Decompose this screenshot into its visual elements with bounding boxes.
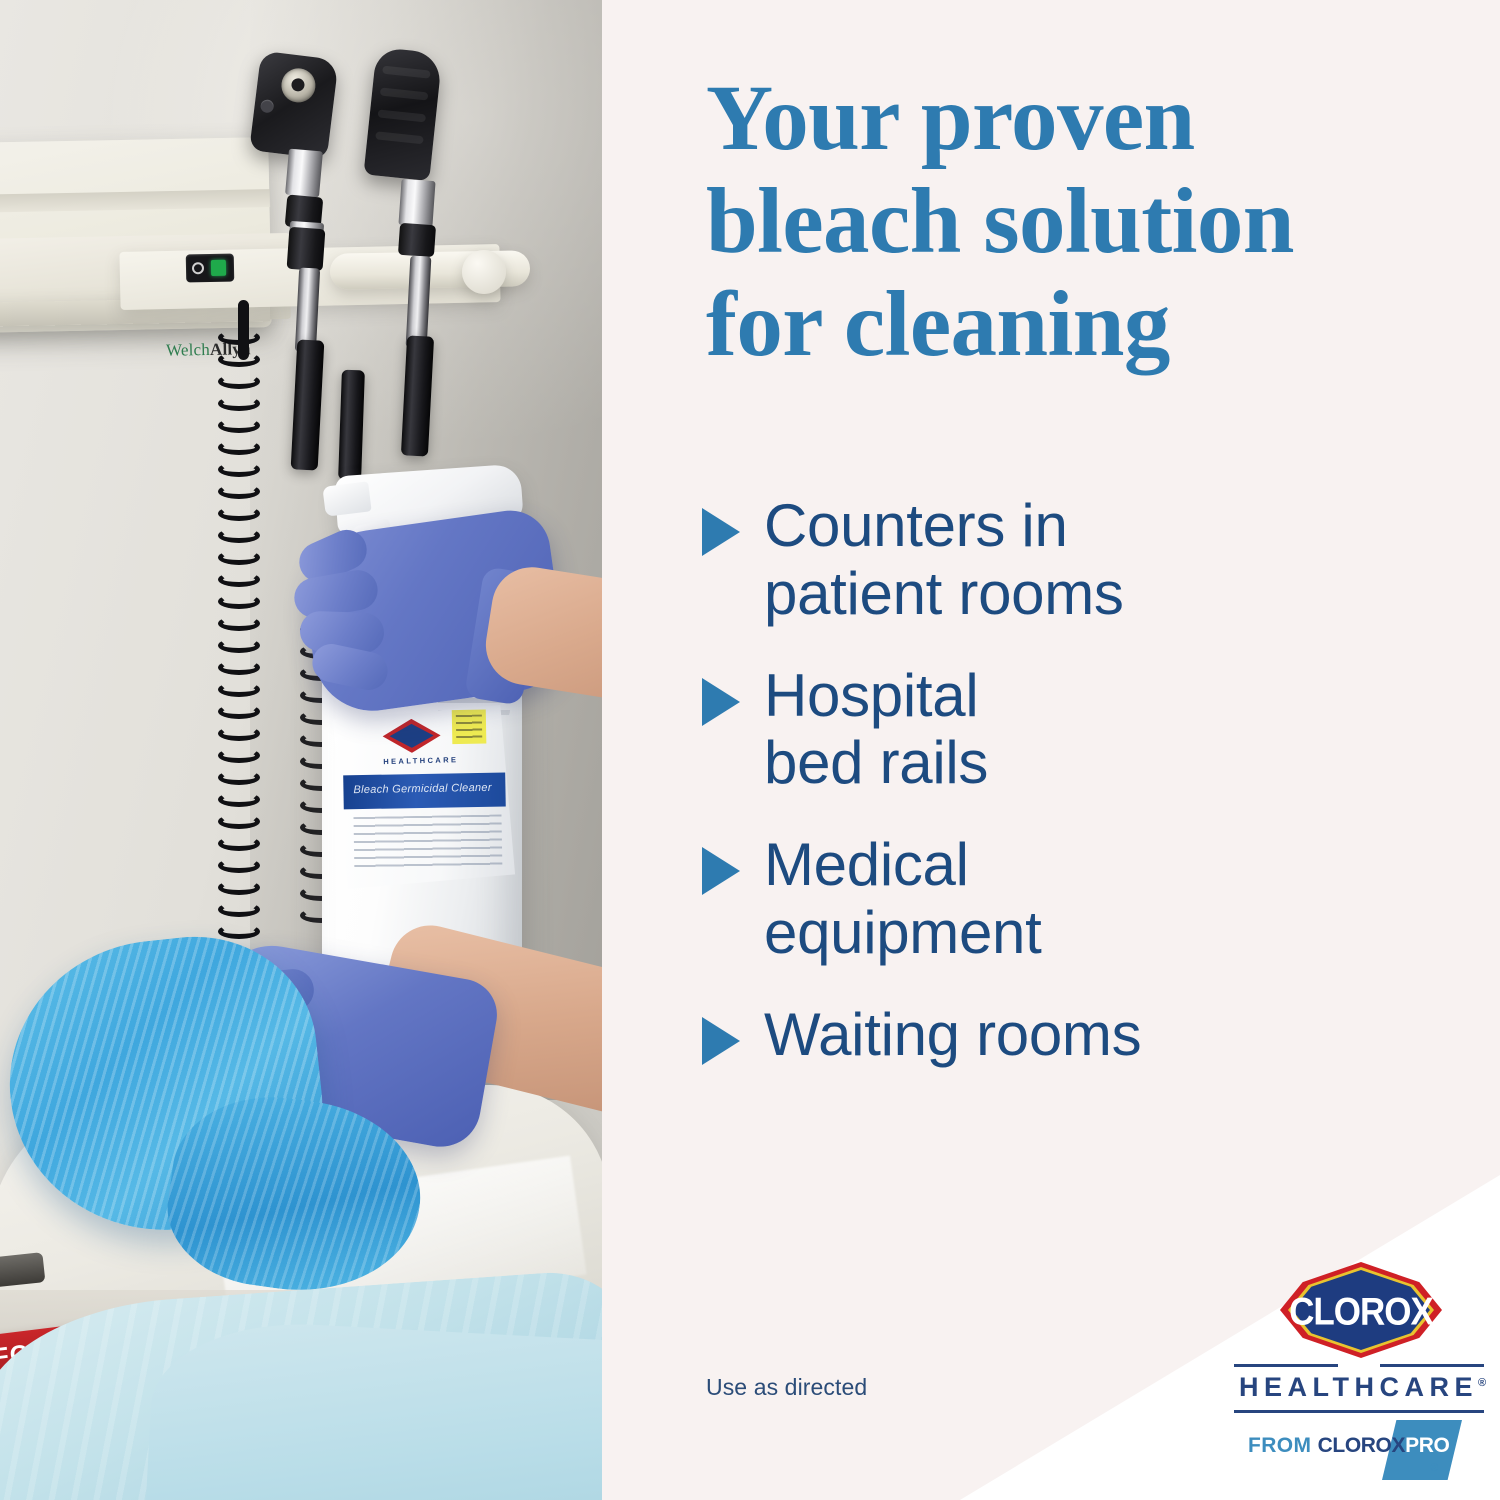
list-item-line-1: Counters in	[764, 492, 1068, 559]
list-item: Waiting rooms	[702, 1001, 1492, 1069]
cloroxpro-endorsement: FROM CLOROXPRO	[1248, 1434, 1484, 1458]
label-product-band: Bleach Germicidal Cleaner	[343, 773, 506, 810]
healthcare-rule-right	[1380, 1364, 1484, 1367]
clorox-healthcare-logo: CLOROX HEALTHCARE® FROM CLOROXPRO ®	[1234, 1262, 1484, 1480]
cord-top-segment	[238, 300, 249, 360]
cloroxpro-clorox: CLOROX	[1318, 1434, 1405, 1457]
healthcare-wordmark: HEALTHCARE®	[1234, 1372, 1484, 1403]
power-on-indicator	[211, 260, 226, 276]
otoscope-knob	[260, 99, 274, 113]
headline-line-3: for cleaning	[706, 274, 1486, 377]
cloroxpro-pro: PRO	[1405, 1434, 1449, 1457]
triangle-bullet-icon	[702, 678, 740, 726]
healthcare-rule-bottom	[1234, 1410, 1484, 1413]
list-item-line-1: Medical	[764, 831, 969, 898]
list-item: Hospital bed rails	[702, 662, 1492, 798]
list-item-line-2: patient rooms	[764, 560, 1124, 627]
clinic-photo: WelchAllyn	[0, 0, 602, 1500]
patient-drape-fold	[145, 1317, 602, 1500]
list-item-line-2: bed rails	[764, 729, 988, 796]
disclaimer-text: Use as directed	[706, 1374, 867, 1401]
clorox-diamond-icon	[382, 718, 441, 753]
list-item-text: Medical equipment	[764, 831, 1042, 967]
label-fine-print	[353, 815, 502, 870]
poster-canvas: WelchAllyn	[0, 0, 1500, 1500]
label-product-name: Bleach Germicidal Cleaner	[353, 782, 492, 796]
benefits-list: Counters in patient rooms Hospital bed r…	[702, 492, 1492, 1069]
otoscope-head	[249, 51, 339, 160]
list-item-line-1: Hospital	[764, 662, 978, 729]
brand-word-welch: Welch	[166, 340, 210, 360]
ophthalmoscope-head	[363, 47, 442, 181]
list-item-text: Hospital bed rails	[764, 662, 988, 798]
page-title: Your proven bleach solution for cleaning	[706, 68, 1486, 376]
triangle-bullet-icon	[702, 508, 740, 556]
ophthalmoscope-ridge	[380, 88, 429, 101]
bottle-label: HEALTHCARE Bleach Germicidal Cleaner	[333, 705, 515, 889]
ophthalmoscope-chrome-collar	[398, 179, 435, 227]
list-item: Medical equipment	[702, 831, 1492, 967]
triangle-bullet-icon	[702, 847, 740, 895]
list-item-text: Waiting rooms	[764, 1001, 1141, 1069]
content-panel: Your proven bleach solution for cleaning…	[602, 0, 1500, 1500]
list-item-text: Counters in patient rooms	[764, 492, 1124, 628]
registered-mark: ®	[1478, 1377, 1486, 1389]
third-instrument-handle	[338, 370, 365, 481]
upper-gloved-hand	[278, 492, 578, 722]
list-item-line-1: Waiting rooms	[764, 1001, 1141, 1068]
otoscope-grip-collar	[287, 227, 326, 271]
ophthalmoscope-ridge	[375, 131, 424, 144]
coiled-cord	[218, 330, 260, 970]
headline-line-2: bleach solution	[706, 171, 1486, 274]
otoscope-lens	[279, 66, 317, 104]
exam-table-lever	[0, 1252, 45, 1288]
clorox-diamond-icon: CLOROX	[1280, 1262, 1442, 1358]
healthcare-rule-left	[1234, 1364, 1338, 1367]
from-label: FROM	[1248, 1434, 1318, 1457]
otoscope-chrome-collar	[285, 149, 323, 198]
list-item-line-2: equipment	[764, 899, 1042, 966]
ophthalmoscope-black-collar	[398, 223, 436, 257]
healthcare-label: HEALTHCARE	[1239, 1372, 1478, 1402]
ophthalmoscope-ridge	[382, 66, 431, 79]
triangle-bullet-icon	[702, 1017, 740, 1065]
ophthalmoscope-ridge	[378, 109, 427, 122]
wall-unit-knob	[462, 250, 506, 294]
lower-gloved-hand	[50, 950, 470, 1280]
power-switch	[186, 254, 235, 283]
cloroxpro-registered-mark: ®	[1430, 1462, 1438, 1474]
label-healthcare-text: HEALTHCARE	[355, 754, 487, 766]
power-off-icon	[192, 262, 204, 274]
list-item: Counters in patient rooms	[702, 492, 1492, 628]
headline-line-1: Your proven	[706, 68, 1486, 171]
clorox-wordmark: CLOROX	[1280, 1290, 1442, 1335]
